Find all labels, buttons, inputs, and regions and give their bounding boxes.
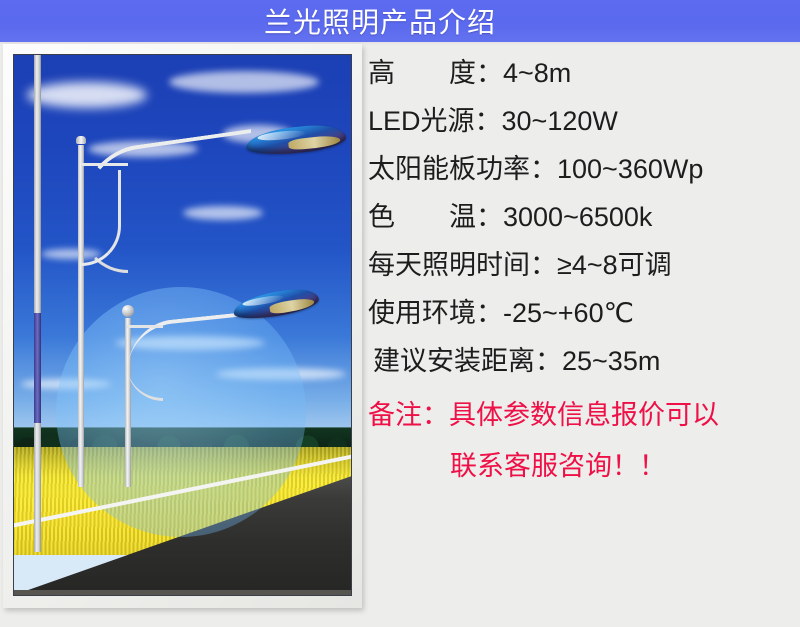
page-header-banner: 兰光照明产品介绍 — [0, 0, 800, 42]
spec-row-color-temperature: 色 温：3000~6500k — [368, 204, 792, 231]
spec-row-install-distance: 建议安装距离：25~35m — [368, 348, 792, 375]
note-line-1: 备注：具体参数信息报价可以 — [368, 402, 792, 429]
road-edge — [14, 590, 351, 595]
spec-row-solar-panel-power: 太阳能板功率：100~360Wp — [368, 156, 792, 183]
lamp-pole — [34, 55, 41, 552]
product-photo — [13, 54, 352, 596]
page-title: 兰光照明产品介绍 — [264, 1, 496, 41]
spec-row-led-source: LED光源：30~120W — [368, 108, 792, 135]
spec-row-operating-env: 使用环境：-25~+60℃ — [368, 300, 792, 327]
street-lamp-partial-pole — [34, 55, 46, 552]
note-line-2: 联系客服咨询！！ — [368, 453, 792, 480]
lamp-pole-cap — [76, 136, 86, 144]
lamp-pole-ball — [122, 305, 134, 317]
lamp-brace — [127, 325, 163, 401]
spec-list: 高 度：4~8m LED光源：30~120W 太阳能板功率：100~360Wp … — [368, 60, 792, 620]
street-lamp-small — [125, 303, 314, 487]
spec-row-daily-lighting: 每天照明时间：≥4~8可调 — [368, 252, 792, 279]
spec-row-height: 高 度：4~8m — [368, 60, 792, 87]
product-photo-frame — [3, 44, 362, 608]
lamp-pole-band — [34, 313, 41, 422]
